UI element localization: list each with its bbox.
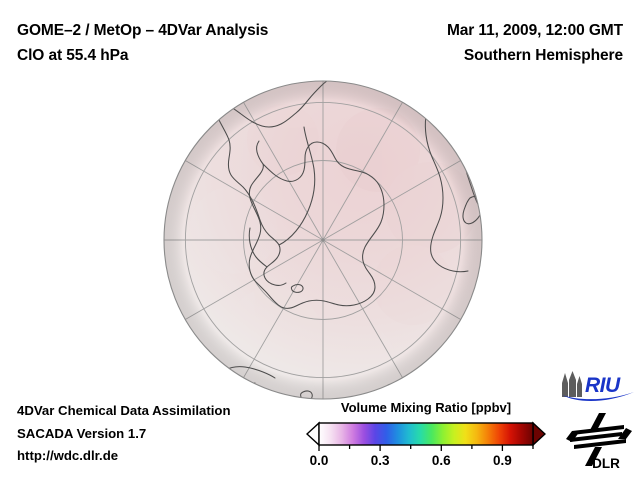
footer-method: 4DVar Chemical Data Assimilation [17, 400, 231, 423]
colorbar-ticks [319, 445, 533, 451]
title-species-level: ClO at 55.4 hPa [17, 43, 268, 68]
riu-logo-icon: RIU [559, 371, 637, 405]
colorbar-tick-label: 0.0 [310, 453, 329, 468]
colorbar-tick-label: 0.3 [371, 453, 390, 468]
colorbar-gradient [319, 423, 533, 445]
colorbar: Volume Mixing Ratio [ppbv] [306, 400, 546, 468]
riu-wordmark: RIU [585, 374, 621, 397]
colorbar-tick-label: 0.9 [493, 453, 512, 468]
title-instrument: GOME–2 / MetOp – 4DVar Analysis [17, 18, 268, 43]
dlr-logo: DLR [566, 411, 634, 469]
title-hemisphere: Southern Hemisphere [447, 43, 623, 68]
title-timestamp: Mar 11, 2009, 12:00 GMT [447, 18, 623, 43]
south-pole-marker [321, 238, 324, 241]
colorbar-tick-labels: 0.0 0.3 0.6 0.9 [310, 453, 512, 468]
colorbar-title: Volume Mixing Ratio [ppbv] [306, 400, 546, 416]
globe-map [163, 80, 483, 400]
orthographic-projection [163, 80, 483, 400]
header-right: Mar 11, 2009, 12:00 GMT Southern Hemisph… [447, 18, 623, 68]
footer-credits: 4DVar Chemical Data Assimilation SACADA … [17, 400, 231, 468]
colorbar-scale: 0.0 0.3 0.6 0.9 [306, 420, 546, 468]
riu-logo: RIU [559, 371, 637, 405]
footer-version: SACADA Version 1.7 [17, 423, 231, 446]
coastline-new-zealand [388, 384, 404, 398]
colorbar-cap-high [533, 423, 545, 445]
header-left: GOME–2 / MetOp – 4DVar Analysis ClO at 5… [17, 18, 268, 68]
footer-url: http://wdc.dlr.de [17, 445, 231, 468]
riu-tower-mark [562, 371, 582, 397]
colorbar-cap-low [307, 423, 319, 445]
dlr-logo-icon: DLR [566, 411, 634, 469]
figure-canvas: GOME–2 / MetOp – 4DVar Analysis ClO at 5… [0, 0, 640, 480]
dlr-wordmark: DLR [592, 456, 620, 469]
colorbar-tick-label: 0.6 [432, 453, 451, 468]
